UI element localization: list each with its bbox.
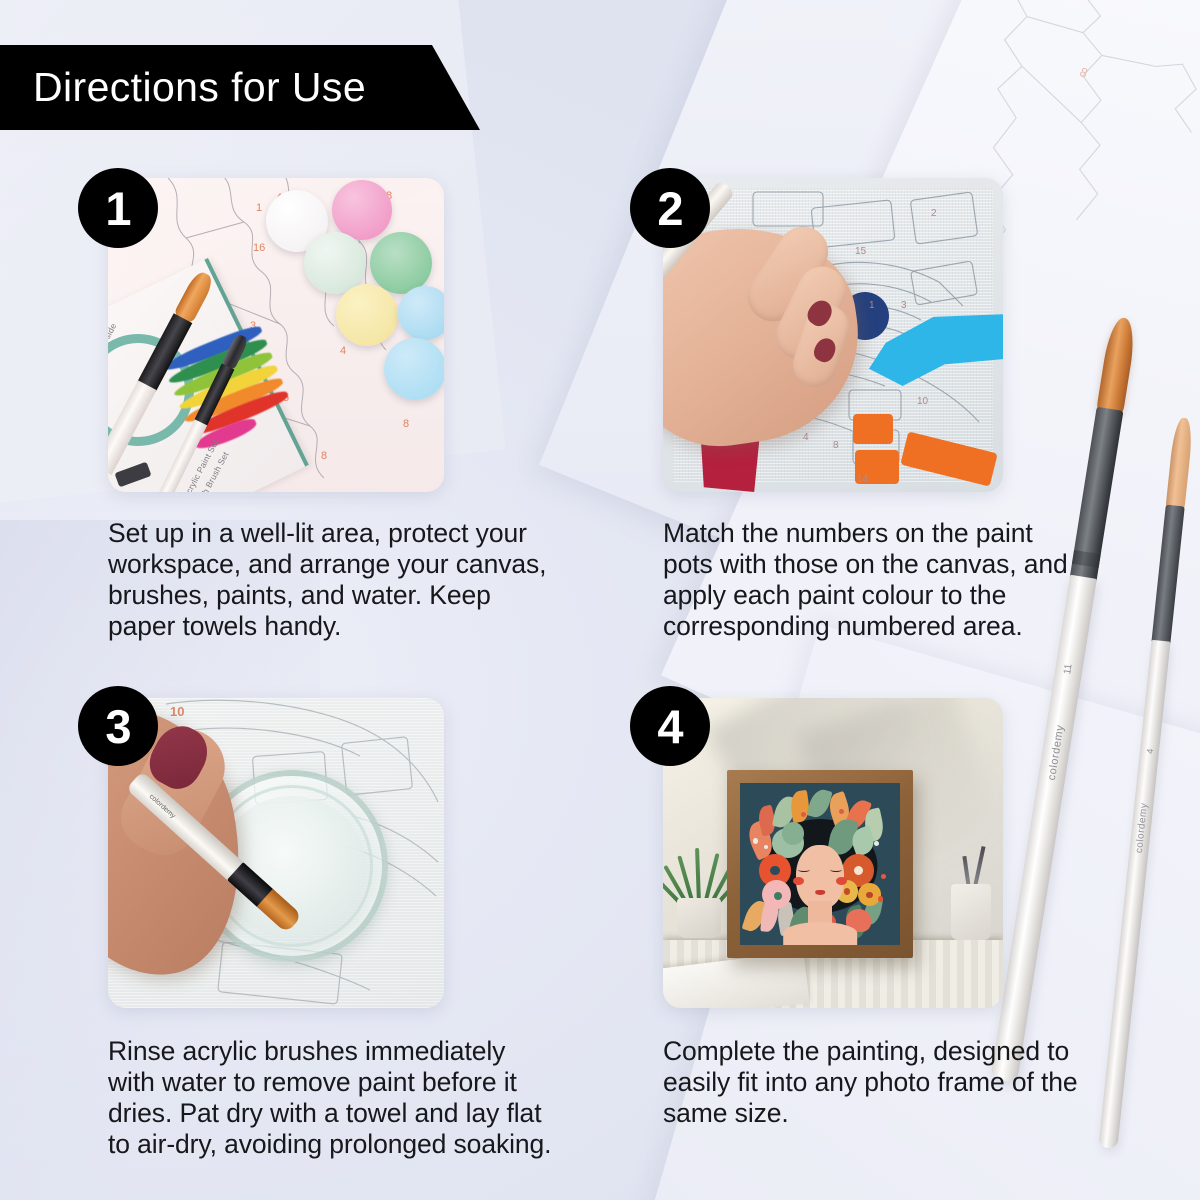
potted-plant [667,846,729,938]
mouth [815,890,825,895]
paint-pot-green [370,232,432,294]
face [796,845,844,910]
step-card-2: 2 [663,178,1133,641]
shoulders [783,922,857,945]
step-photo-3: 10 colordemy [108,698,444,1008]
step-photo-1: 16 4 1 5 7 8 3 5 4 8 8 [108,178,444,492]
paint-pot-skyblue [384,338,444,400]
step-number-badge-3: 3 [78,686,158,766]
paint-pot-pink [332,180,392,240]
paint-pot-yellow [336,284,398,346]
step-card-1: 1 [108,178,578,641]
step-number-badge-4: 4 [630,686,710,766]
finished-painting [740,783,900,945]
rinsing-brush-illustration: 10 colordemy [108,698,444,1008]
paint-pot-lightblue [398,286,444,340]
step-card-4: 4 [663,698,1133,1129]
painting-canvas-illustration: 15 2 1 3 10 8 14 4 colordemy [663,178,1003,492]
step-caption-1: Set up in a well-lit area, protect your … [108,518,558,641]
steps-grid: 1 [0,0,1200,1200]
step-number-badge-2: 2 [630,168,710,248]
header-banner: Directions for Use [0,45,505,130]
step-caption-3: Rinse acrylic brushes immediately with w… [108,1036,558,1159]
step-caption-2: Match the numbers on the paint pots with… [663,518,1083,641]
cheek [793,877,804,885]
step-photo-4 [663,698,1003,1008]
step-photo-2: 15 2 1 3 10 8 14 4 colordemy [663,178,1003,492]
picture-frame [727,770,913,958]
page-title: Directions for Use [0,64,366,111]
framed-artwork-scene [663,698,1003,1008]
step-number-badge-1: 1 [78,168,158,248]
step-caption-4: Complete the painting, designed to easil… [663,1036,1083,1129]
painted-region-orange [853,414,893,444]
step-card-3: 3 10 [108,698,578,1159]
plant-pot [677,898,721,938]
pencil-cup [951,884,991,940]
supplies-flatlay-illustration: 16 4 1 5 7 8 3 5 4 8 8 [108,178,444,492]
